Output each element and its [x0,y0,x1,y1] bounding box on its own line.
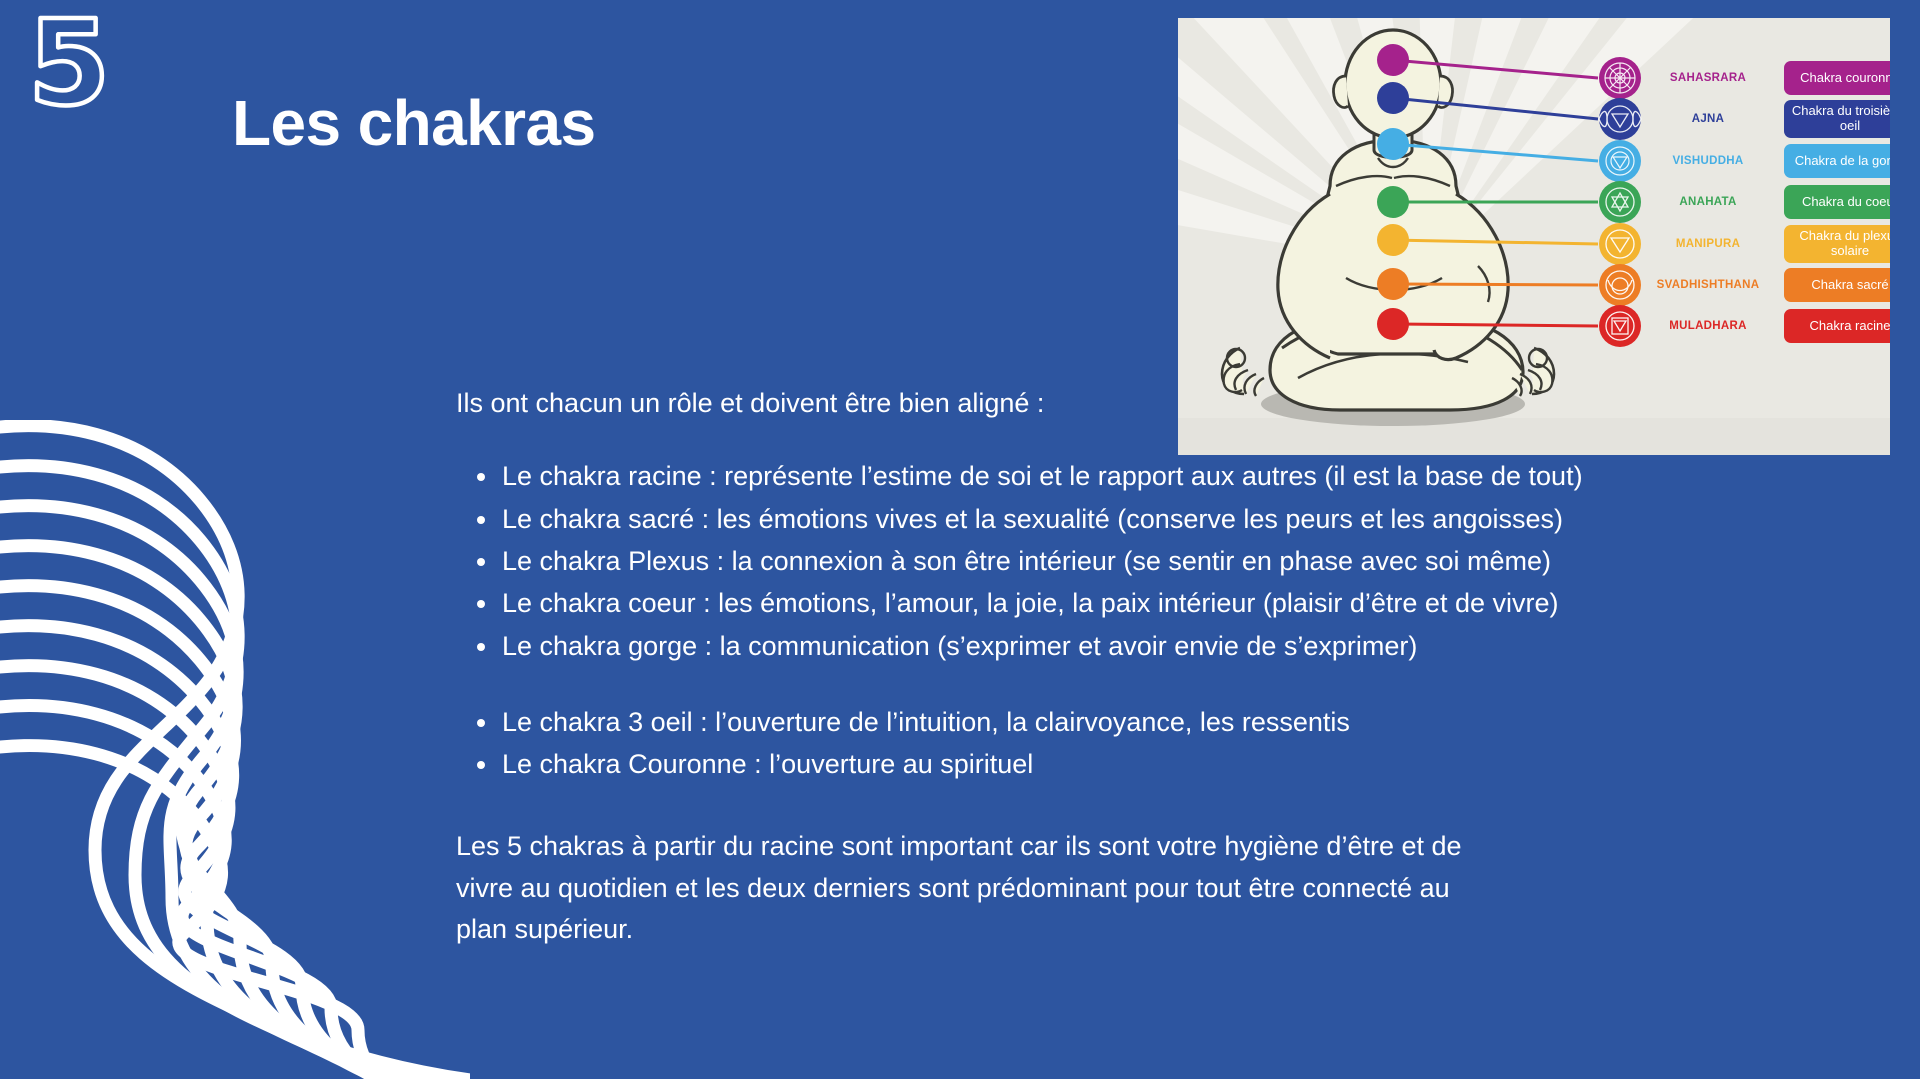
chakra-mandala-vishuddha [1599,140,1641,182]
wave-decoration [0,420,470,1079]
chakra-dot-ajna [1377,82,1409,114]
chakra-pill-troisieme-oeil: Chakra du troisième oeil [1784,100,1890,138]
chakra-mandala-anahata [1599,181,1641,223]
list-item: Le chakra coeur : les émotions, l’amour,… [456,584,1516,622]
chakra-dot-svadhisthana [1377,268,1409,300]
chakra-mandala-manipura [1599,223,1641,265]
chakra-sanskrit-label: AJNA [1648,113,1768,125]
chakra-sanskrit-label: SAHASRARA [1648,72,1768,84]
chakra-sanskrit-label: ANAHATA [1648,196,1768,208]
slide-number-5: 5 [26,12,112,116]
chakra-mandala-svadhisthana [1599,264,1641,306]
chakra-dot-manipura [1377,224,1409,256]
chakra-sanskrit-label: SVADHISHTHANA [1638,279,1778,291]
chakra-dot-muladhara [1377,308,1409,340]
chakra-pill-gorge: Chakra de la gorge [1784,144,1890,178]
body-content: Ils ont chacun un rôle et doivent être b… [456,385,1516,951]
slide-number-glyph: 5 [28,12,110,116]
chakra-bullet-list: Le chakra racine : représente l’estime d… [456,457,1516,783]
chakra-mandala-ajna [1599,98,1641,140]
chakra-dot-sahasrara [1377,44,1409,76]
list-item: Le chakra Plexus : la connexion à son êt… [456,542,1516,580]
list-item: Le chakra Couronne : l’ouverture au spir… [456,745,1516,783]
closing-paragraph: Les 5 chakras à partir du racine sont im… [456,826,1486,952]
chakra-sanskrit-label: MULADHARA [1648,320,1768,332]
chakra-pill-couronne: Chakra couronne [1784,61,1890,95]
chakra-pill-sacre: Chakra sacré [1784,268,1890,302]
chakra-dot-vishuddha [1377,128,1409,160]
list-item: Le chakra gorge : la communication (s’ex… [456,627,1516,665]
chakra-mandala-muladhara [1599,305,1641,347]
chakra-pill-racine: Chakra racine [1784,309,1890,343]
chakra-pill-plexus-solaire: Chakra du plexus solaire [1784,225,1890,263]
chakra-sanskrit-label: MANIPURA [1648,238,1768,250]
list-item: Le chakra racine : représente l’estime d… [456,457,1516,495]
chakra-dot-anahata [1377,186,1409,218]
page-title: Les chakras [232,88,595,158]
slide-canvas: 5 Les chakras [0,0,1920,1079]
list-item: Le chakra sacré : les émotions vives et … [456,500,1516,538]
chakra-sanskrit-label: VISHUDDHA [1648,155,1768,167]
chakra-pill-coeur: Chakra du coeur [1784,185,1890,219]
intro-text: Ils ont chacun un rôle et doivent être b… [456,385,1516,421]
list-item: Le chakra 3 oeil : l’ouverture de l’intu… [456,703,1516,741]
